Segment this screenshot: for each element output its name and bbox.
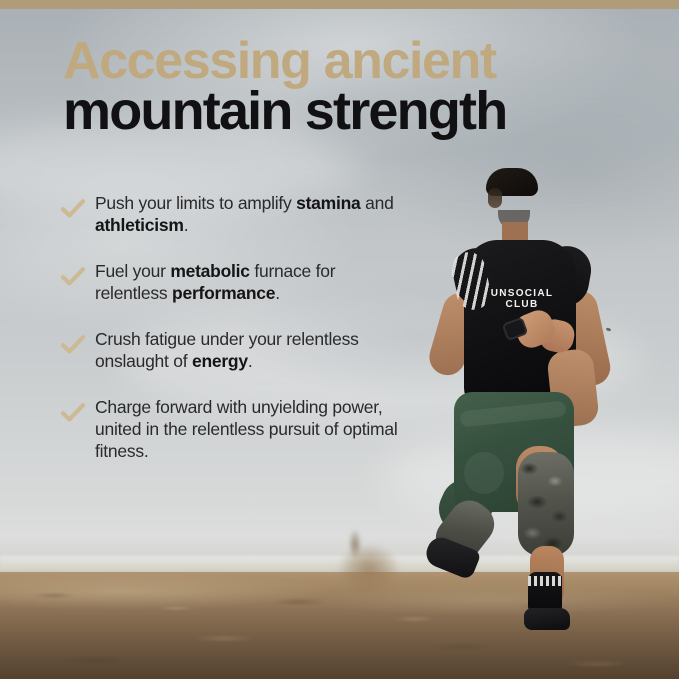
text-overlay: Accessing ancient mountain strength Push… <box>0 0 679 679</box>
list-item-text: Push your limits to amplify stamina and … <box>95 192 407 236</box>
check-icon <box>60 400 86 426</box>
headline-line-2: mountain strength <box>63 86 643 136</box>
headline-line-1: Accessing ancient <box>63 36 643 86</box>
top-border-rule <box>0 0 679 9</box>
check-icon <box>60 196 86 222</box>
check-icon <box>60 332 86 358</box>
list-item: Fuel your metabolic furnace for relentle… <box>60 260 420 304</box>
list-item: Push your limits to amplify stamina and … <box>60 192 420 236</box>
list-item: Crush fatigue under your relentless onsl… <box>60 328 420 372</box>
headline: Accessing ancient mountain strength <box>63 36 643 136</box>
list-item-text: Charge forward with unyielding power, un… <box>95 396 407 462</box>
list-item-text: Fuel your metabolic furnace for relentle… <box>95 260 407 304</box>
benefit-list: Push your limits to amplify stamina and … <box>60 192 420 462</box>
promo-poster: UNSOCIAL CLUB Accessing ancient mountain… <box>0 0 679 679</box>
check-icon <box>60 264 86 290</box>
list-item-text: Crush fatigue under your relentless onsl… <box>95 328 407 372</box>
list-item: Charge forward with unyielding power, un… <box>60 396 420 462</box>
